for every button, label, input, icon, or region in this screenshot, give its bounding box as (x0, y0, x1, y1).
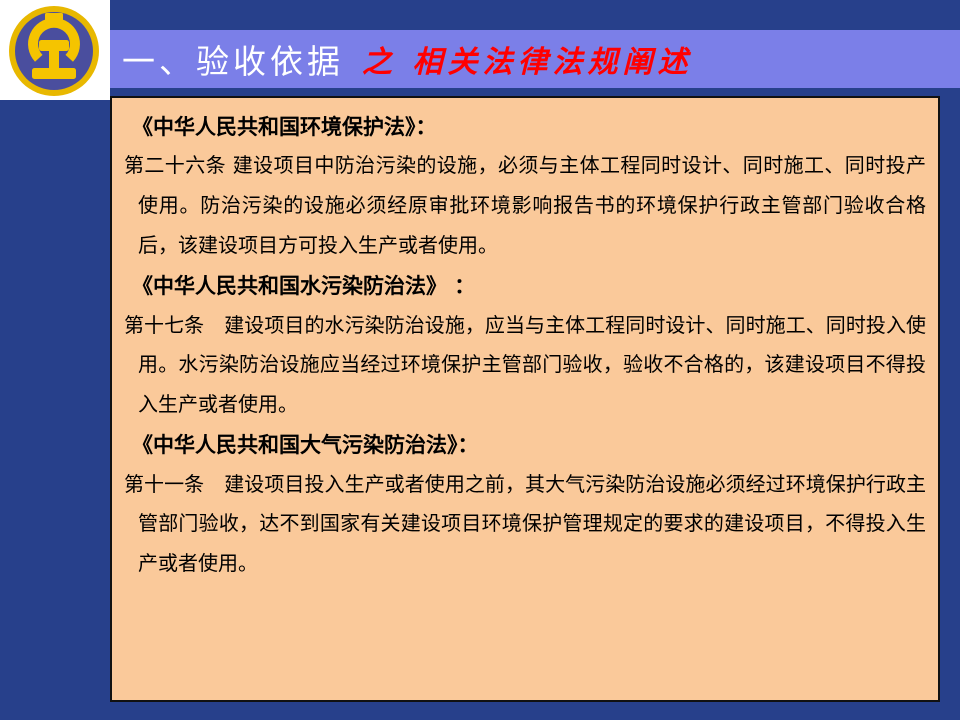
slide-root: 一、验收依据 之 相关法律法规阐述 《中华人民共和国环境保护法》： 第二十六条 … (0, 0, 960, 720)
law-content-box: 《中华人民共和国环境保护法》： 第二十六条 建设项目中防治污染的设施，必须与主体… (110, 96, 940, 702)
law-heading-3: 《中华人民共和国大气污染防治法》： (132, 430, 926, 460)
law-heading-1: 《中华人民共和国环境保护法》： (132, 112, 926, 142)
page-title: 一、验收依据 (122, 35, 344, 83)
law-heading-2: 《中华人民共和国水污染防治法》 ： (132, 271, 926, 301)
law-body-3: 第十一条 建设项目投入生产或者使用之前，其大气污染防治设施必须经过环境保护行政主… (124, 465, 926, 584)
logo-plate (0, 0, 110, 100)
slide-title: 一、验收依据 之 相关法律法规阐述 (122, 33, 692, 85)
page-subtitle: 之 相关法律法规阐述 (362, 37, 692, 81)
law-body-1: 第二十六条 建设项目中防治污染的设施，必须与主体工程同时设计、同时施工、同时投产… (124, 146, 926, 265)
china-railway-logo-icon (6, 4, 102, 98)
law-body-2: 第十七条 建设项目的水污染防治设施，应当与主体工程同时设计、同时施工、同时投入使… (124, 306, 926, 425)
